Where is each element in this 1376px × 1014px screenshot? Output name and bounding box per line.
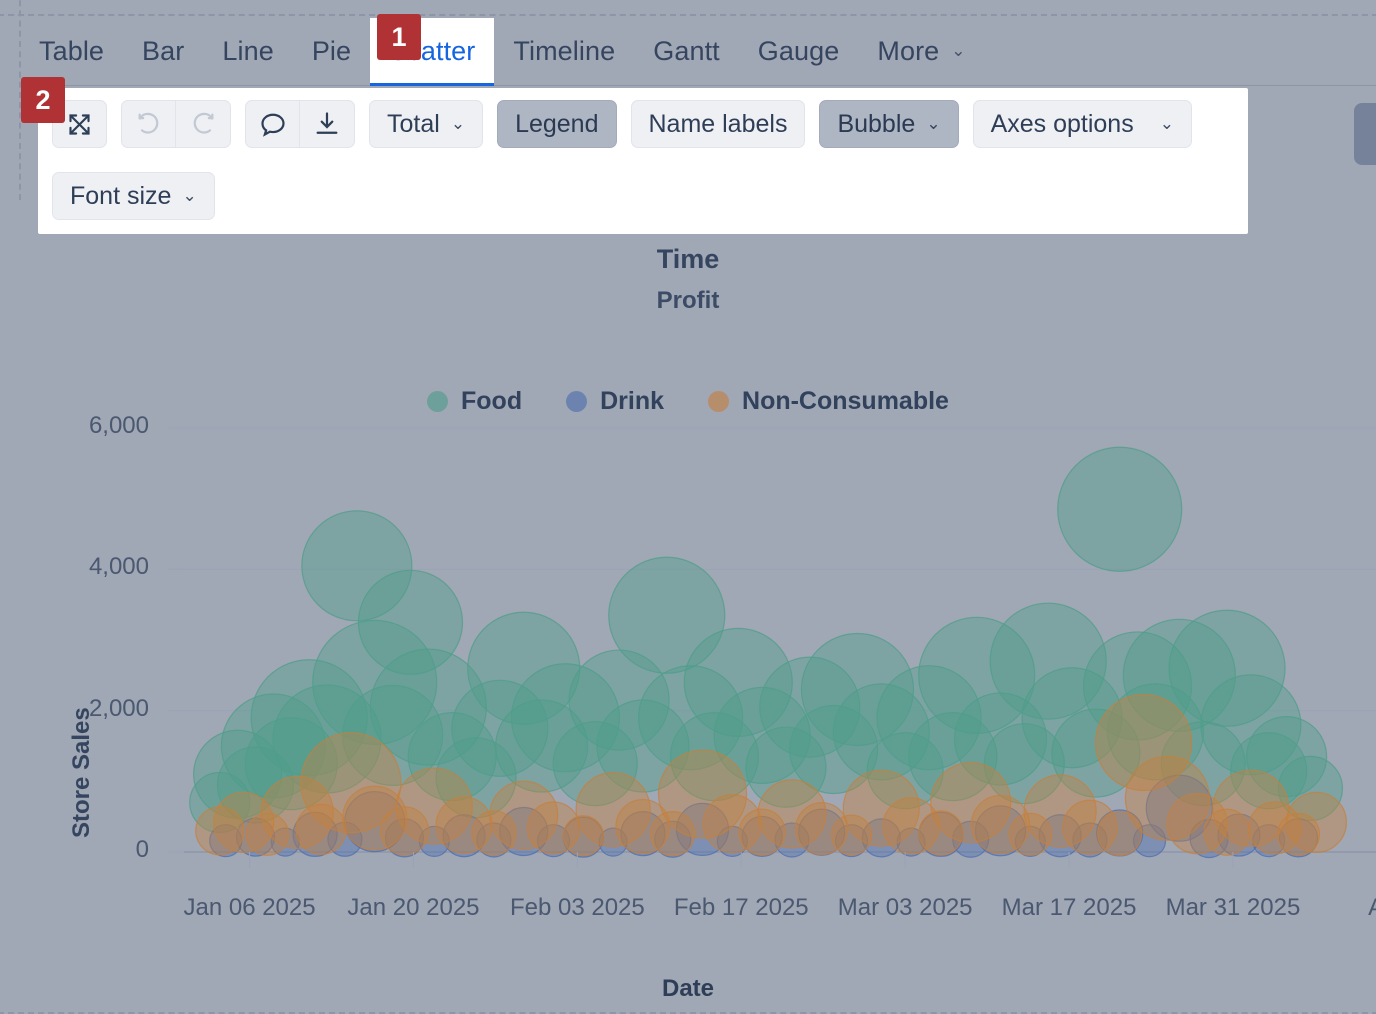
download-icon xyxy=(313,110,341,138)
legend-swatch-icon xyxy=(427,391,448,412)
chevron-down-icon: ⌄ xyxy=(451,114,465,134)
bubble-dropdown[interactable]: Bubble ⌄ xyxy=(819,100,958,148)
axes-options-label: Axes options xyxy=(991,110,1134,139)
right-edge-panel-handle[interactable] xyxy=(1354,103,1376,165)
toolbar-group-actions xyxy=(245,100,355,148)
y-tick-label: 2,000 xyxy=(29,695,149,723)
tab-gantt[interactable]: Gantt xyxy=(634,18,739,85)
legend-item-food[interactable]: Food xyxy=(427,387,522,416)
chart-legend: FoodDrinkNon-Consumable xyxy=(0,387,1376,416)
legend-swatch-icon xyxy=(566,391,587,412)
x-axis-title: Date xyxy=(0,975,1376,1003)
legend-label: Drink xyxy=(600,387,664,416)
undo-button[interactable] xyxy=(121,100,176,148)
legend-item-non-consumable[interactable]: Non-Consumable xyxy=(708,387,949,416)
legend-toggle[interactable]: Legend xyxy=(497,100,616,148)
scatter-chart: Time Profit FoodDrinkNon-Consumable Stor… xyxy=(0,228,1376,981)
bubble-dropdown-label: Bubble xyxy=(837,110,915,139)
undo-icon xyxy=(135,110,163,138)
total-dropdown[interactable]: Total ⌄ xyxy=(369,100,483,148)
tab-bar[interactable]: Bar xyxy=(123,18,203,85)
y-tick-label: 4,000 xyxy=(29,553,149,581)
x-tick-label: Jan 06 2025 xyxy=(183,894,315,922)
chevron-down-icon: ⌄ xyxy=(926,114,940,134)
x-tick-label: Mar 17 2025 xyxy=(1002,894,1137,922)
legend-item-drink[interactable]: Drink xyxy=(566,387,664,416)
comment-bubble-icon xyxy=(259,110,287,138)
chevron-down-icon: ⌄ xyxy=(951,41,965,61)
redo-button[interactable] xyxy=(176,100,231,148)
x-tick-label: Mar 03 2025 xyxy=(838,894,973,922)
tab-label: Gantt xyxy=(653,36,720,67)
comment-button[interactable] xyxy=(245,100,300,148)
y-axis-title: Store Sales xyxy=(68,707,96,838)
tab-label: Pie xyxy=(312,36,351,67)
annotation-badge-1: 1 xyxy=(377,14,421,60)
toolbar-group-history xyxy=(121,100,231,148)
font-size-dropdown[interactable]: Font size ⌄ xyxy=(52,172,215,220)
tab-more[interactable]: More⌄ xyxy=(858,18,984,85)
tab-label: Table xyxy=(39,36,104,67)
axes-options-dropdown[interactable]: Axes options ⌄ xyxy=(973,100,1192,148)
legend-label: Non-Consumable xyxy=(742,387,949,416)
tab-pie[interactable]: Pie xyxy=(293,18,370,85)
x-tick-label: Jan 20 2025 xyxy=(347,894,479,922)
bubble-point[interactable] xyxy=(1286,792,1346,852)
redo-icon xyxy=(189,110,217,138)
name-labels-toggle[interactable]: Name labels xyxy=(631,100,806,148)
tab-label: More xyxy=(877,36,939,67)
tab-label: Line xyxy=(222,36,273,67)
chart-title: Time xyxy=(0,244,1376,275)
tab-label: Gauge xyxy=(758,36,840,67)
x-tick-label: Apr 1 xyxy=(1368,894,1376,922)
chevron-down-icon: ⌄ xyxy=(182,186,196,206)
y-tick-label: 6,000 xyxy=(29,412,149,440)
legend-swatch-icon xyxy=(708,391,729,412)
chart-subtitle: Profit xyxy=(0,287,1376,315)
plot-svg xyxy=(0,422,1376,942)
tab-line[interactable]: Line xyxy=(203,18,292,85)
tab-gauge[interactable]: Gauge xyxy=(739,18,859,85)
tab-label: Timeline xyxy=(513,36,615,67)
chart-toolbar: Total ⌄ Legend Name labels Bubble ⌄ Axes… xyxy=(38,88,1248,234)
name-labels-toggle-label: Name labels xyxy=(649,110,788,139)
expand-arrows-icon xyxy=(66,111,93,138)
tab-label: Bar xyxy=(142,36,184,67)
bubble-point[interactable] xyxy=(1058,447,1182,571)
x-tick-label: Mar 31 2025 xyxy=(1166,894,1301,922)
y-tick-label: 0 xyxy=(29,836,149,864)
legend-label: Food xyxy=(461,387,522,416)
chart-type-tabbar: TableBarLinePieScatterTimelineGanttGauge… xyxy=(20,18,1376,86)
chevron-down-icon: ⌄ xyxy=(1160,114,1174,134)
x-tick-label: Feb 03 2025 xyxy=(510,894,645,922)
legend-toggle-label: Legend xyxy=(515,110,598,139)
download-button[interactable] xyxy=(300,100,355,148)
annotation-badge-2: 2 xyxy=(21,77,65,123)
plot-area: Store Sales 02,0004,0006,000Jan 06 2025J… xyxy=(0,422,1376,942)
tab-table[interactable]: Table xyxy=(20,18,123,85)
tab-timeline[interactable]: Timeline xyxy=(494,18,634,85)
font-size-label: Font size xyxy=(70,182,171,211)
x-tick-label: Feb 17 2025 xyxy=(674,894,809,922)
total-dropdown-label: Total xyxy=(387,110,440,139)
